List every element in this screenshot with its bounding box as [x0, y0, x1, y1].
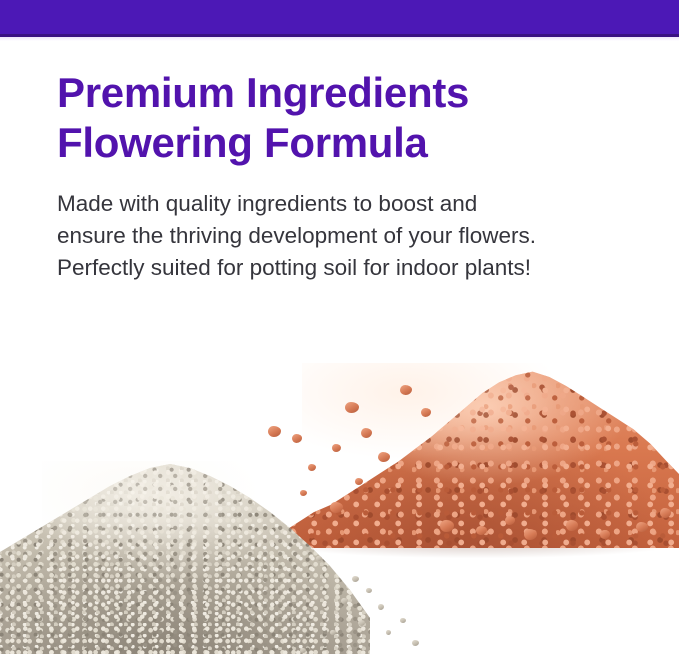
grey-pile-highlight — [42, 461, 262, 553]
loose-granule — [412, 640, 419, 646]
loose-granule — [400, 618, 406, 623]
product-photo — [0, 330, 679, 654]
copy-block: Premium Ingredients Flowering Formula Ma… — [57, 68, 597, 284]
loose-granule — [366, 588, 372, 593]
top-purple-band — [0, 0, 679, 34]
grey-granule-pile — [0, 448, 370, 654]
body-description: Made with quality ingredients to boost a… — [57, 188, 552, 284]
loose-granule — [378, 604, 384, 610]
page-title: Premium Ingredients Flowering Formula — [57, 68, 597, 168]
headline-line-2: Flowering Formula — [57, 118, 597, 168]
loose-granule — [386, 630, 391, 635]
orange-pile-highlight — [302, 363, 562, 460]
top-band-glow — [0, 37, 679, 41]
product-feature-card: Premium Ingredients Flowering Formula Ma… — [0, 0, 679, 654]
headline-line-1: Premium Ingredients — [57, 69, 469, 116]
